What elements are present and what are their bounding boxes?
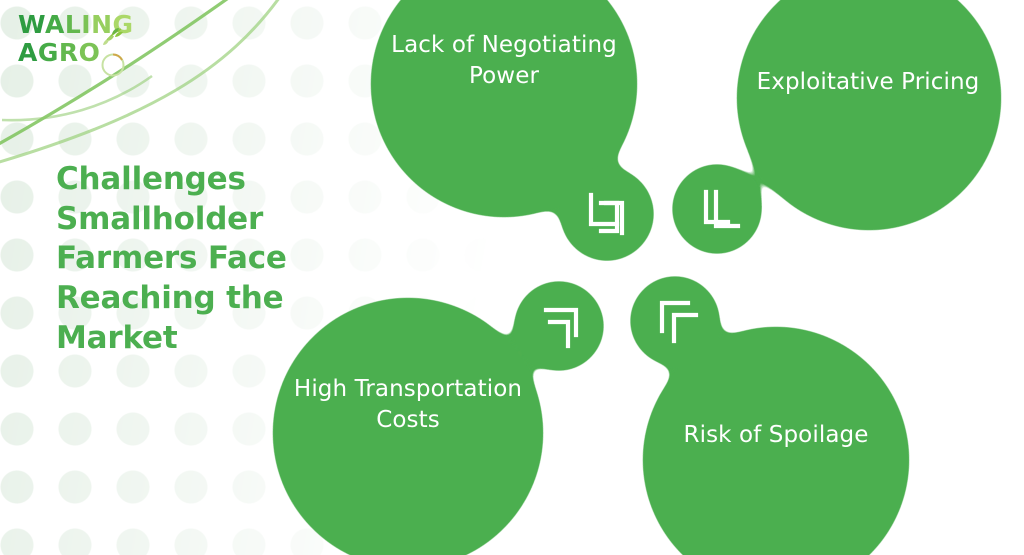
bubble-exploitative-pricing[interactable] <box>671 0 1002 255</box>
leaf-sprig-icon <box>99 26 125 48</box>
bubble-risk-of-spoilage[interactable] <box>629 275 910 555</box>
brand-logo: WALING AGRO <box>18 12 134 65</box>
circle-outline-icon <box>100 52 126 78</box>
infographic-canvas: WALING AGRO Challenges Smallholder Farme… <box>0 0 1024 555</box>
page-title: Challenges Smallholder Farmers Face Reac… <box>56 160 336 358</box>
